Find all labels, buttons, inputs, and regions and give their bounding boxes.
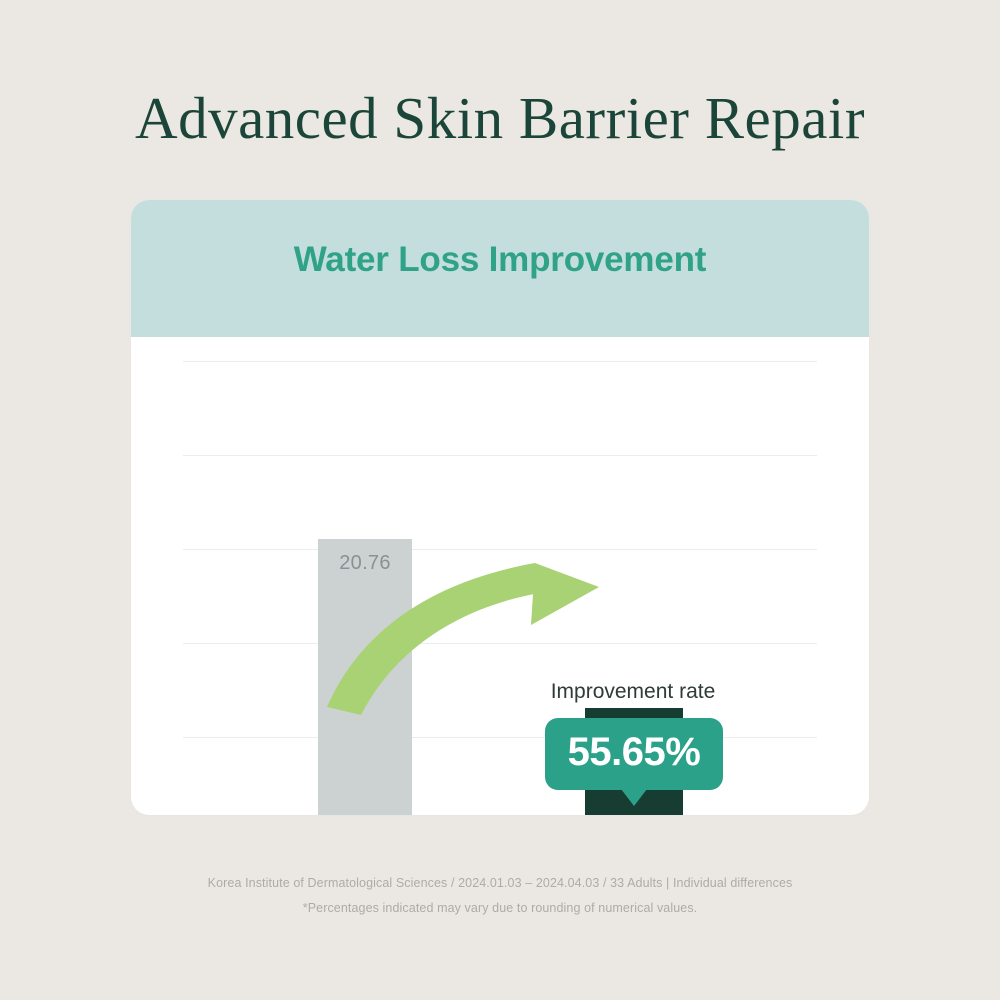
- footnotes: Korea Institute of Dermatological Scienc…: [0, 871, 1000, 921]
- bubble-tail-icon: [621, 789, 647, 806]
- gridline: [183, 361, 817, 362]
- gridline: [183, 643, 817, 644]
- bar-before-use[interactable]: 20.76: [318, 539, 412, 815]
- footnote-source: Korea Institute of Dermatological Scienc…: [0, 871, 1000, 896]
- gridline: [183, 549, 817, 550]
- bar-value-before: 20.76: [318, 552, 412, 575]
- improvement-rate-label: Improvement rate: [513, 680, 753, 704]
- page-title: Advanced Skin Barrier Repair: [0, 84, 1000, 153]
- card-header-band: Water Loss Improvement: [131, 200, 869, 337]
- card-header-title: Water Loss Improvement: [131, 240, 869, 280]
- gridline: [183, 455, 817, 456]
- chart-card: Water Loss Improvement 20.76 9.21 Bef: [131, 200, 869, 815]
- chart-plot-area: 20.76 9.21 Before use After 4 weeks Impr…: [131, 337, 869, 815]
- footnote-disclaimer: *Percentages indicated may vary due to r…: [0, 896, 1000, 921]
- improvement-rate-bubble: 55.65%: [545, 718, 723, 790]
- improvement-rate-value: 55.65%: [545, 730, 723, 775]
